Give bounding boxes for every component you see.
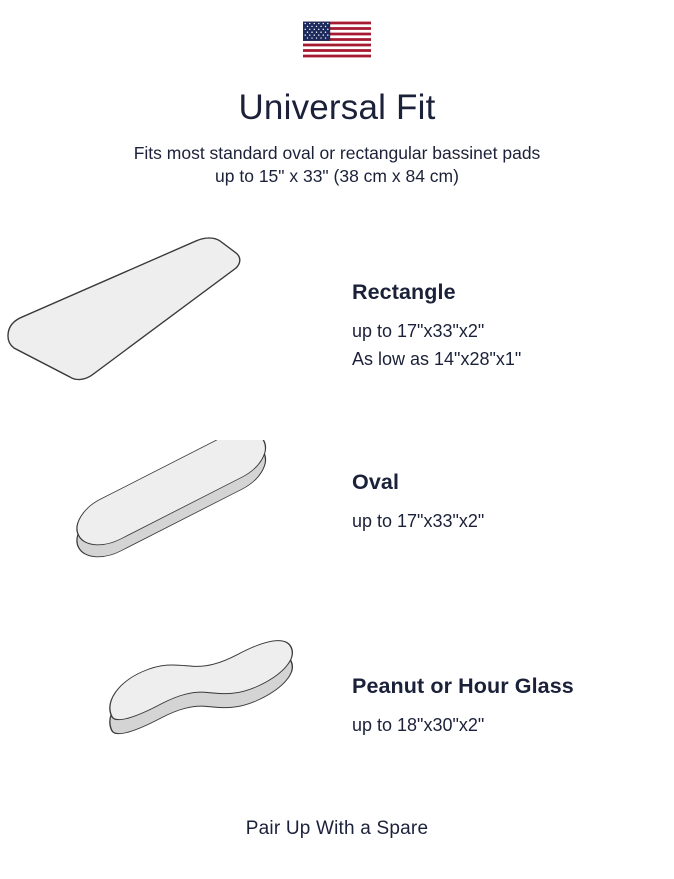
flag-container — [0, 21, 674, 58]
peanut-labels: Peanut or Hour Glass up to 18"x30"x2" — [340, 630, 674, 738]
page-subtitle: Fits most standard oval or rectangular b… — [0, 142, 674, 189]
oval-pad-icon — [0, 440, 340, 595]
shape-row-oval: Oval up to 17"x33"x2" — [0, 440, 674, 595]
peanut-pad-icon — [0, 630, 340, 800]
peanut-art — [0, 630, 340, 800]
shape-spec-rectangle-2: As low as 14"x28"x1" — [352, 346, 674, 372]
rectangle-art — [0, 236, 340, 411]
page-title: Universal Fit — [0, 86, 674, 131]
shape-name-oval: Oval — [352, 470, 674, 496]
oval-labels: Oval up to 17"x33"x2" — [340, 440, 674, 534]
subtitle-line-1: Fits most standard oval or rectangular b… — [0, 142, 674, 166]
shape-row-peanut: Peanut or Hour Glass up to 18"x30"x2" — [0, 630, 674, 800]
header-block: Universal Fit Fits most standard oval or… — [0, 86, 674, 189]
shape-name-rectangle: Rectangle — [352, 280, 674, 306]
shape-spec-rectangle-1: up to 17"x33"x2" — [352, 318, 674, 344]
rectangle-labels: Rectangle up to 17"x33"x2" As low as 14"… — [340, 236, 674, 372]
usa-flag-icon — [303, 21, 371, 58]
shape-spec-peanut-1: up to 18"x30"x2" — [352, 712, 674, 738]
shape-name-peanut: Peanut or Hour Glass — [352, 674, 674, 700]
rectangle-pad-icon — [0, 236, 340, 411]
oval-art — [0, 440, 340, 595]
shape-row-rectangle: Rectangle up to 17"x33"x2" As low as 14"… — [0, 236, 674, 411]
footer-tagline: Pair Up With a Spare — [0, 818, 674, 840]
subtitle-line-2: up to 15" x 33" (38 cm x 84 cm) — [0, 165, 674, 189]
shape-spec-oval-1: up to 17"x33"x2" — [352, 508, 674, 534]
